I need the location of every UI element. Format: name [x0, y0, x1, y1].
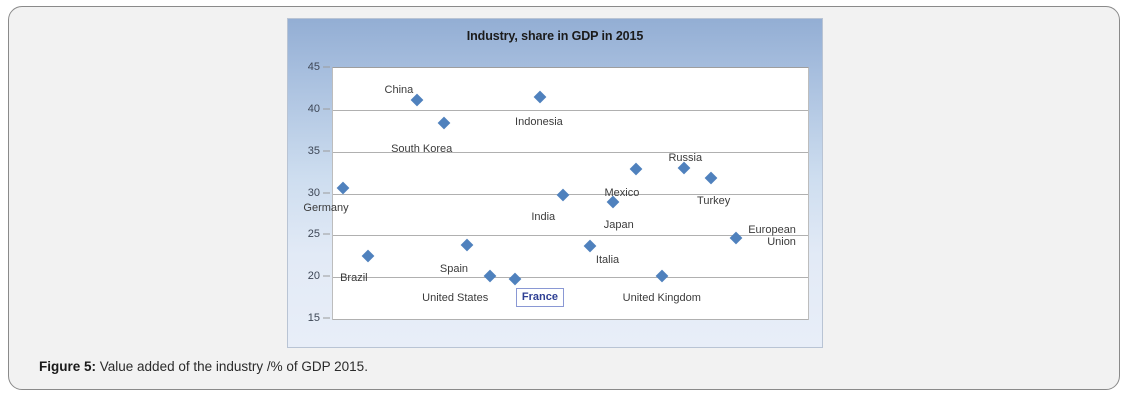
y-axis-tick-mark — [323, 318, 330, 319]
figure-container: Industry, share in GDP in 2015 454035302… — [8, 6, 1120, 390]
data-point-label: EuropeanUnion — [748, 224, 796, 249]
figure-caption-label: Figure 5: — [39, 359, 96, 374]
data-point-label: Turkey — [697, 195, 730, 207]
y-axis-tick-mark — [323, 192, 330, 193]
y-axis-tick-label: 25 — [308, 228, 320, 240]
plot-area — [332, 67, 809, 320]
data-point-label: Indonesia — [515, 116, 563, 128]
data-point-label-line: European — [748, 224, 796, 236]
data-point-label: Spain — [440, 263, 468, 275]
y-axis-tick-label: 40 — [308, 103, 320, 115]
y-axis-tick-mark — [323, 67, 330, 68]
y-axis-tick-mark — [323, 150, 330, 151]
gridline — [333, 319, 808, 320]
data-point-label: Russia — [668, 152, 702, 164]
figure-caption: Figure 5: Value added of the industry /%… — [39, 359, 368, 374]
data-point-label: India — [531, 211, 555, 223]
gridline — [333, 110, 808, 111]
figure-caption-text: Value added of the industry /% of GDP 20… — [96, 359, 368, 374]
data-point-label: China — [385, 84, 414, 96]
y-axis-tick-mark — [323, 276, 330, 277]
y-axis-tick-mark — [323, 108, 330, 109]
data-point-label-line: Union — [748, 236, 796, 248]
y-axis: 45403530252015 — [288, 67, 332, 320]
data-point-label-france-selected[interactable]: France — [516, 288, 564, 307]
data-point-label: South Korea — [391, 143, 452, 155]
data-point-label: Italia — [596, 254, 619, 266]
chart-title: Industry, share in GDP in 2015 — [288, 29, 822, 43]
y-axis-tick-label: 15 — [308, 312, 320, 324]
data-point-label: Mexico — [604, 187, 639, 199]
gridline — [333, 194, 808, 195]
y-axis-tick-label: 30 — [308, 187, 320, 199]
y-axis-tick-mark — [323, 234, 330, 235]
gridline — [333, 277, 808, 278]
data-point-label: Japan — [604, 219, 634, 231]
data-point-label: United States — [422, 292, 488, 304]
data-point-label: Brazil — [340, 272, 368, 284]
data-point-label: Germany — [303, 202, 348, 214]
scatter-chart: Industry, share in GDP in 2015 454035302… — [287, 18, 823, 348]
y-axis-tick-label: 20 — [308, 270, 320, 282]
y-axis-tick-label: 35 — [308, 145, 320, 157]
y-axis-tick-label: 45 — [308, 61, 320, 73]
data-point-label: United Kingdom — [623, 292, 701, 304]
